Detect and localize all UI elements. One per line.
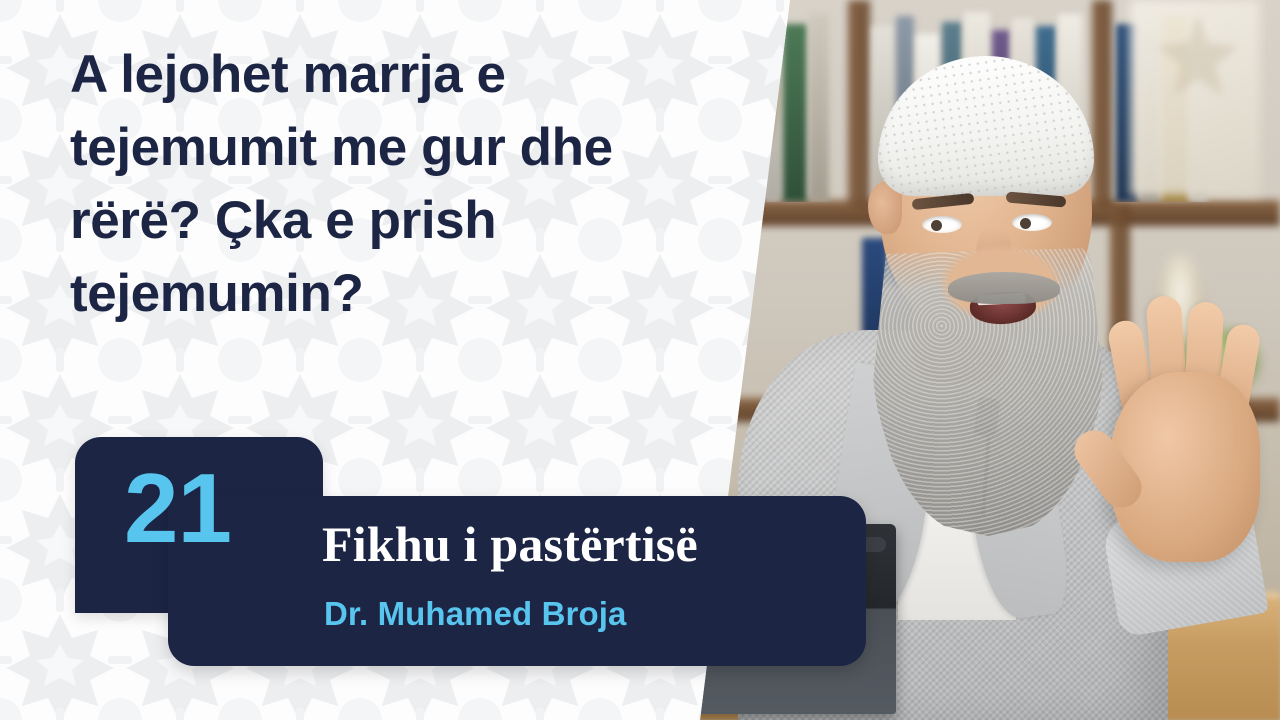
kufi-cap-texture (878, 56, 1094, 196)
thumbnail-canvas: A lejohet marrja e tejemumit me gur dhe … (0, 0, 1280, 720)
series-title: Fikhu i pastërtisë (322, 518, 698, 571)
palm (1110, 372, 1260, 562)
raised-hand (1092, 276, 1272, 576)
pupil (931, 220, 942, 231)
speaker-name: Dr. Muhamed Broja (324, 597, 626, 632)
eye-left (922, 216, 962, 233)
kufi-cap (878, 56, 1094, 196)
mustache (948, 272, 1060, 304)
episode-number: 21 (124, 459, 284, 557)
episode-badge: 21 Fikhu i pastërtisë Dr. Muhamed Broja (0, 0, 900, 720)
pupil (1020, 218, 1031, 229)
eye-right (1012, 214, 1052, 231)
